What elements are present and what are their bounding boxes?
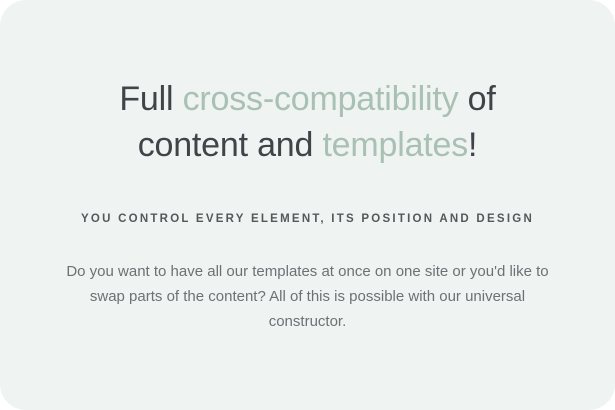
heading-text-full: Full: [119, 80, 182, 118]
screenshot-canvas: Full cross-compatibility of content and …: [0, 0, 615, 410]
heading-line-1: Full cross-compatibility of: [119, 80, 495, 118]
section-body-text: Do you want to have all our templates at…: [65, 228, 551, 334]
heading-accent-templates: templates: [322, 126, 468, 164]
heading-accent-cross-compatibility: cross-compatibility: [183, 80, 459, 118]
feature-section-panel: Full cross-compatibility of content and …: [0, 0, 615, 410]
heading-text-of: of: [458, 80, 495, 118]
heading-text-exclamation: !: [468, 126, 477, 164]
heading-line-2: content and templates!: [138, 126, 478, 164]
page-title: Full cross-compatibility of content and …: [119, 76, 495, 168]
section-subtitle: You control every element, its position …: [81, 168, 534, 228]
heading-text-content-and: content and: [138, 126, 323, 164]
